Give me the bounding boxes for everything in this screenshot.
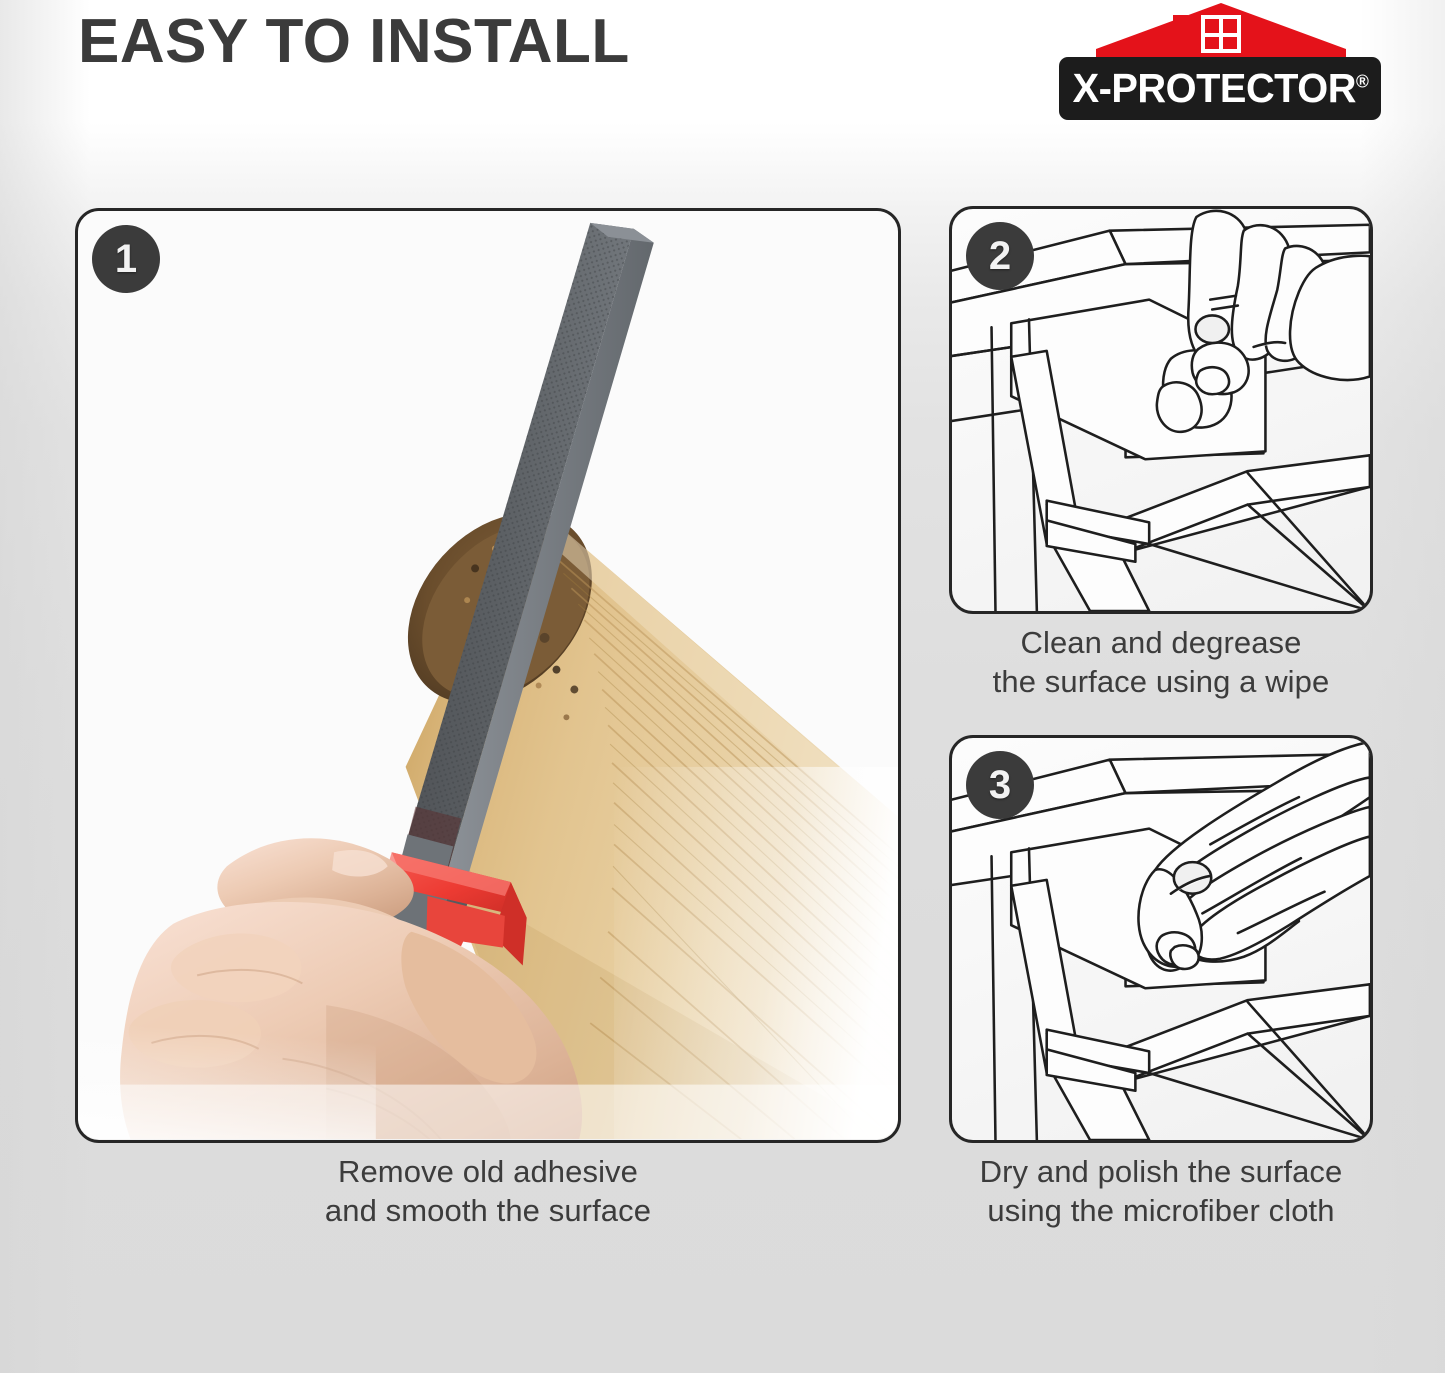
step-1-caption-line2: and smooth the surface: [75, 1191, 901, 1230]
step-1-caption: Remove old adhesive and smooth the surfa…: [75, 1152, 901, 1230]
logo-brand-text: X-PROTECTOR®: [1072, 68, 1368, 109]
step-3-caption-line1: Dry and polish the surface: [980, 1154, 1343, 1189]
step-3-caption: Dry and polish the surface using the mic…: [949, 1152, 1373, 1230]
step-2-caption-line1: Clean and degrease: [1020, 625, 1301, 660]
page-title: EASY TO INSTALL: [78, 6, 630, 77]
logo-wordmark-bar: X-PROTECTOR®: [1059, 57, 1381, 120]
step-1-panel: [75, 208, 901, 1143]
step-2-badge: 2: [966, 222, 1034, 290]
step-2-caption: Clean and degrease the surface using a w…: [949, 623, 1373, 701]
logo-trademark: ®: [1355, 71, 1367, 91]
brand-logo: X-PROTECTOR®: [1059, 2, 1381, 122]
step-3-badge: 3: [966, 751, 1034, 819]
house-roof-icon: [1095, 2, 1347, 58]
step-1-badge: 1: [92, 225, 160, 293]
step-3-caption-line2: using the microfiber cloth: [949, 1191, 1373, 1230]
step-2-caption-line2: the surface using a wipe: [949, 662, 1373, 701]
step-1-illustration: [78, 211, 898, 1139]
step-1-caption-line1: Remove old adhesive: [338, 1154, 638, 1189]
header: EASY TO INSTALL X-PROTECTOR®: [0, 0, 1445, 128]
